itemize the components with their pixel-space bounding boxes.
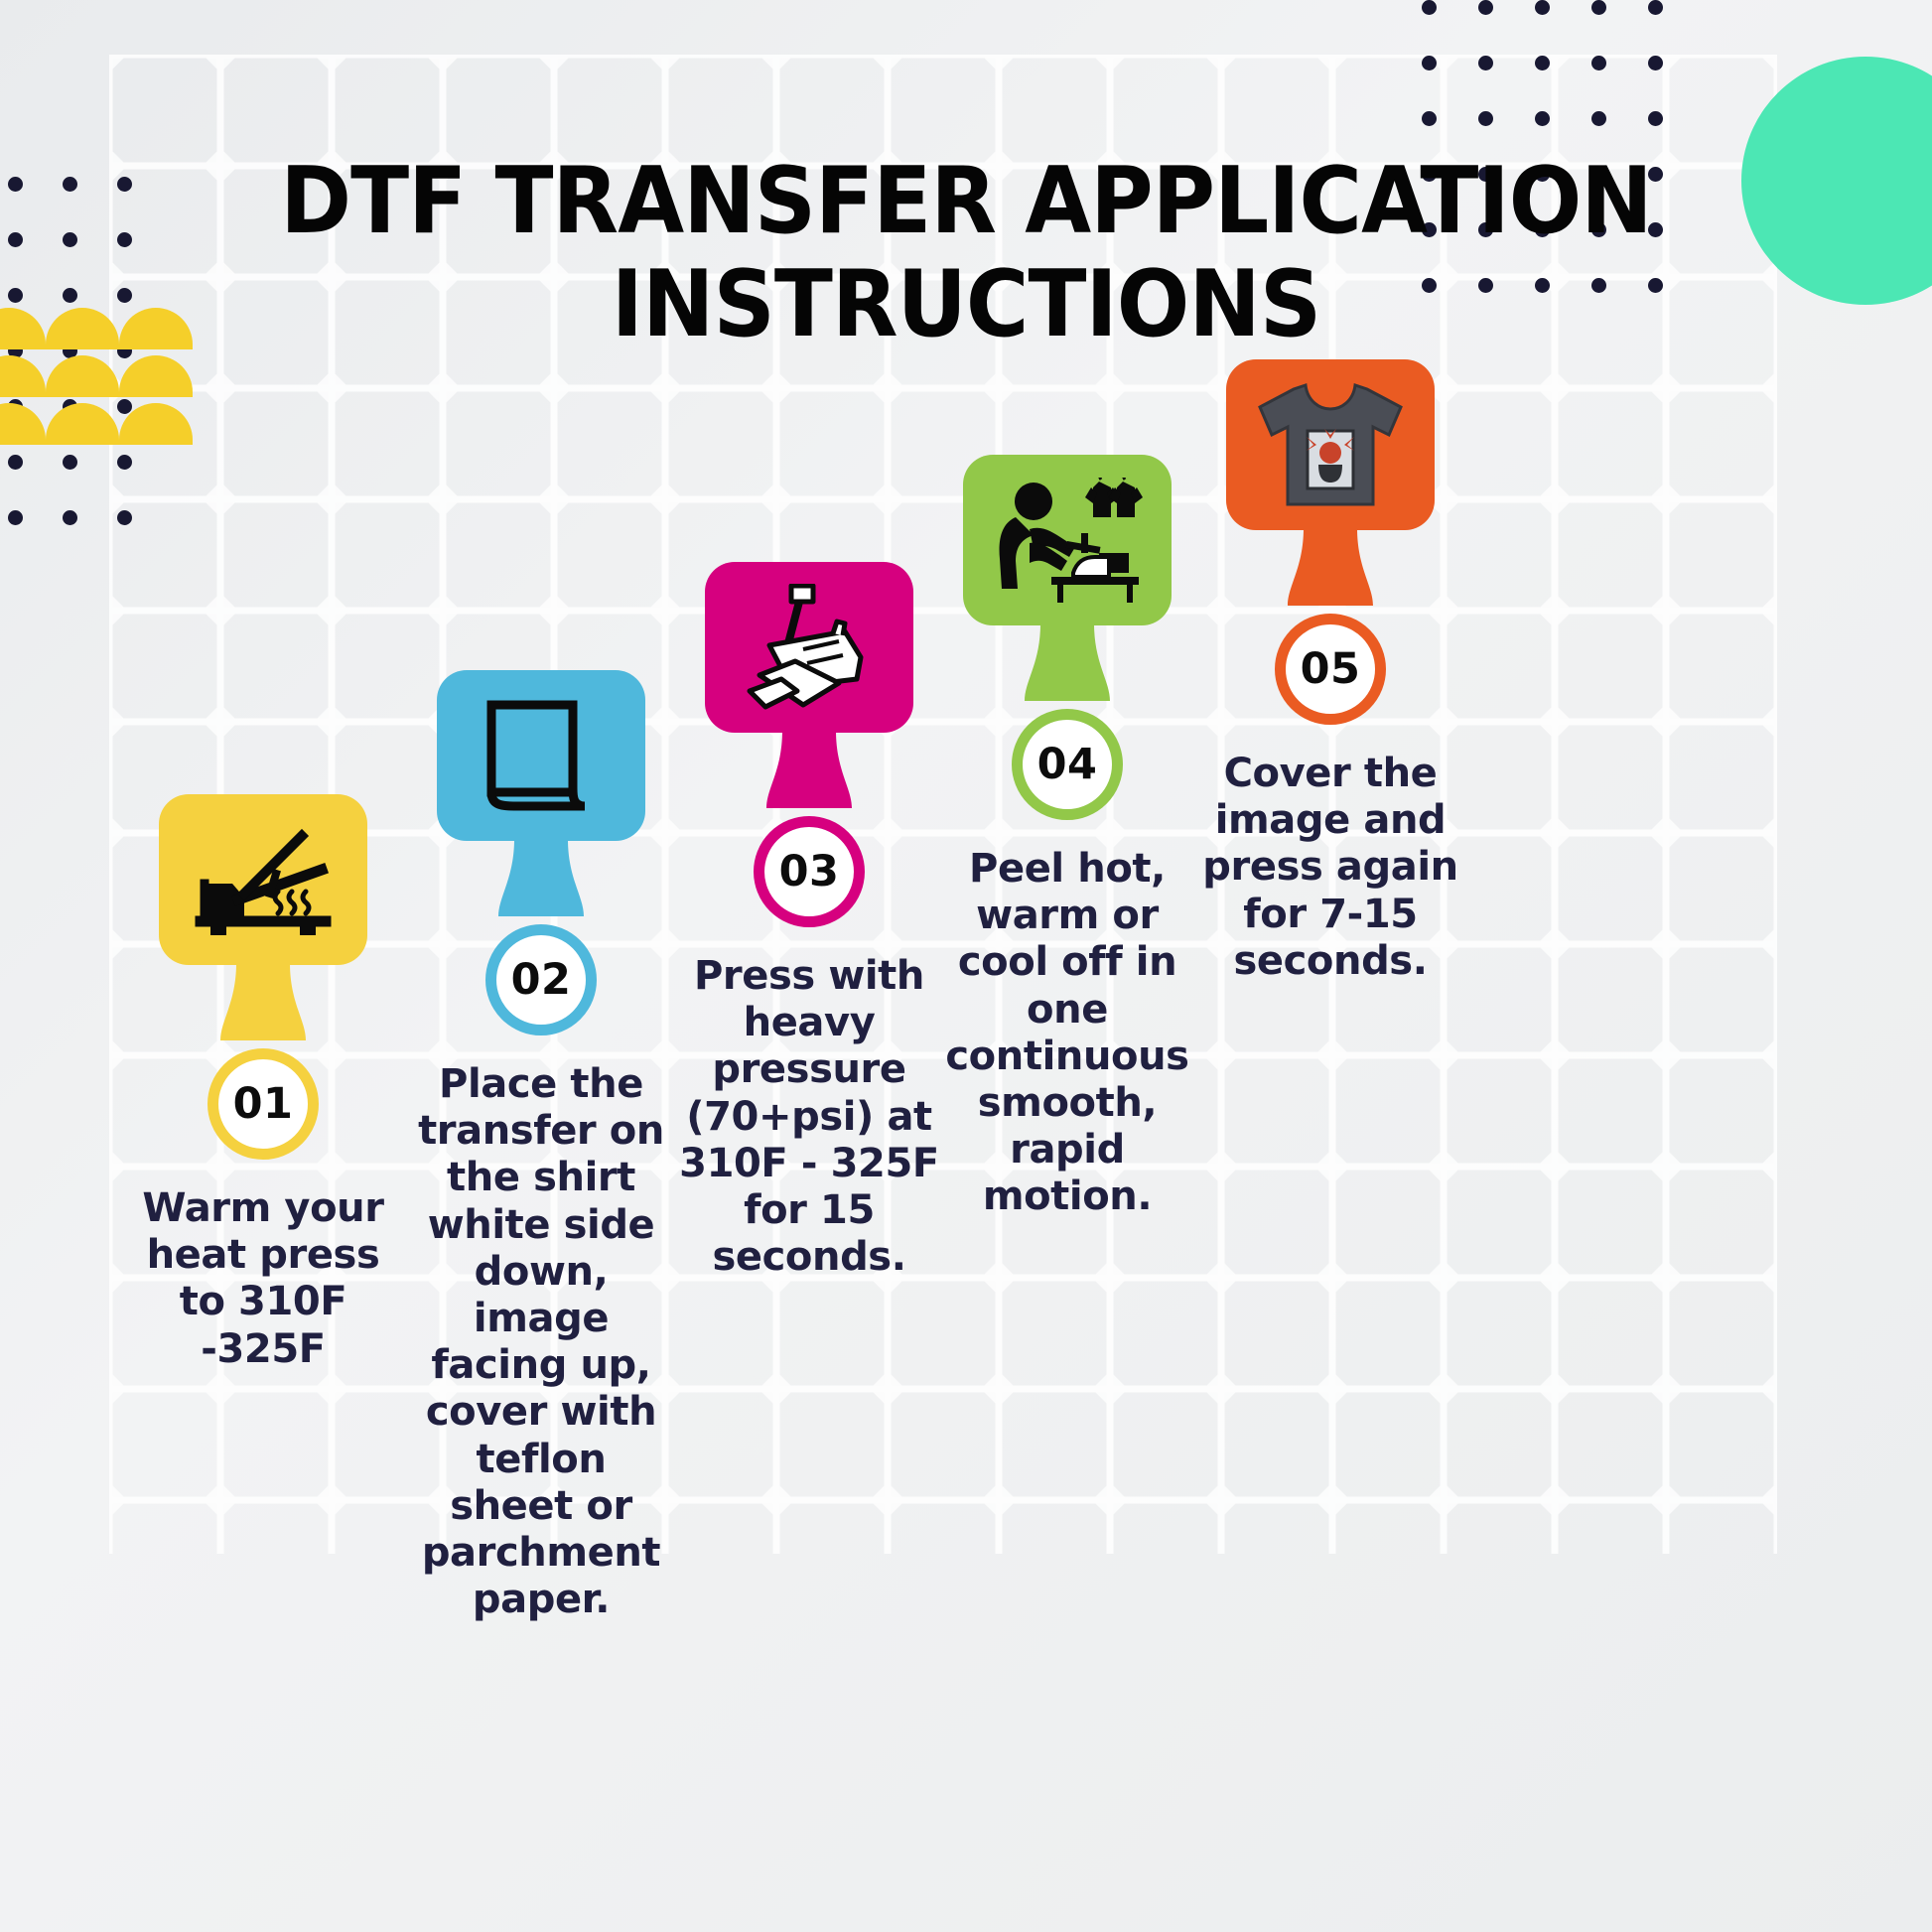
step-neck-03 xyxy=(705,731,913,830)
step-badge-02[interactable]: 02 xyxy=(485,924,597,1035)
step-number-04: 04 xyxy=(1037,740,1098,789)
printed-tshirt-icon xyxy=(1256,379,1405,510)
yellow-arc-shape xyxy=(0,403,46,445)
step-badge-01[interactable]: 01 xyxy=(207,1048,319,1160)
step-caption-04: Peel hot, warm or cool off in one contin… xyxy=(937,846,1197,1221)
step-card-04[interactable] xyxy=(963,455,1172,625)
transfer-sheet-icon xyxy=(482,697,601,814)
heat-press-icon xyxy=(193,824,334,935)
step-item-03[interactable]: 03 Press with heavy pressure (70+psi) at… xyxy=(675,562,943,1281)
steps-container: 01 Warm your heat press to 310F -325F 02 xyxy=(119,0,1827,1932)
step-caption-01: Warm your heat press to 310F -325F xyxy=(133,1185,393,1373)
yellow-arc-shape xyxy=(0,308,46,349)
step-badge-04[interactable]: 04 xyxy=(1012,709,1123,820)
step-item-05[interactable]: 05 Cover the image and press again for 7… xyxy=(1196,359,1464,985)
step-neck-02 xyxy=(437,839,645,938)
step-card-01[interactable] xyxy=(159,794,367,965)
step-card-02[interactable] xyxy=(437,670,645,841)
yellow-arc-shape xyxy=(46,355,119,397)
peeling-person-icon xyxy=(990,478,1145,603)
step-neck-05 xyxy=(1226,528,1435,627)
step-caption-03: Press with heavy pressure (70+psi) at 31… xyxy=(679,953,939,1281)
step-caption-05: Cover the image and press again for 7-15… xyxy=(1200,751,1460,985)
step-number-02: 02 xyxy=(511,955,572,1005)
step-badge-05[interactable]: 05 xyxy=(1275,614,1386,725)
step-item-01[interactable]: 01 Warm your heat press to 310F -325F xyxy=(129,794,397,1373)
step-card-03[interactable] xyxy=(705,562,913,733)
step-number-05: 05 xyxy=(1301,644,1361,694)
step-badge-03[interactable]: 03 xyxy=(754,816,865,927)
step-neck-04 xyxy=(963,623,1172,723)
step-neck-01 xyxy=(159,963,367,1062)
step-caption-02: Place the transfer on the shirt white si… xyxy=(411,1061,671,1623)
press-machine-icon xyxy=(740,584,879,711)
yellow-arc-shape xyxy=(46,403,119,445)
step-number-01: 01 xyxy=(233,1079,294,1129)
yellow-arc-shape xyxy=(0,355,46,397)
step-item-02[interactable]: 02 Place the transfer on the shirt white… xyxy=(407,670,675,1623)
step-card-05[interactable] xyxy=(1226,359,1435,530)
step-item-04[interactable]: 04 Peel hot, warm or cool off in one con… xyxy=(933,455,1201,1221)
step-number-03: 03 xyxy=(779,847,840,897)
